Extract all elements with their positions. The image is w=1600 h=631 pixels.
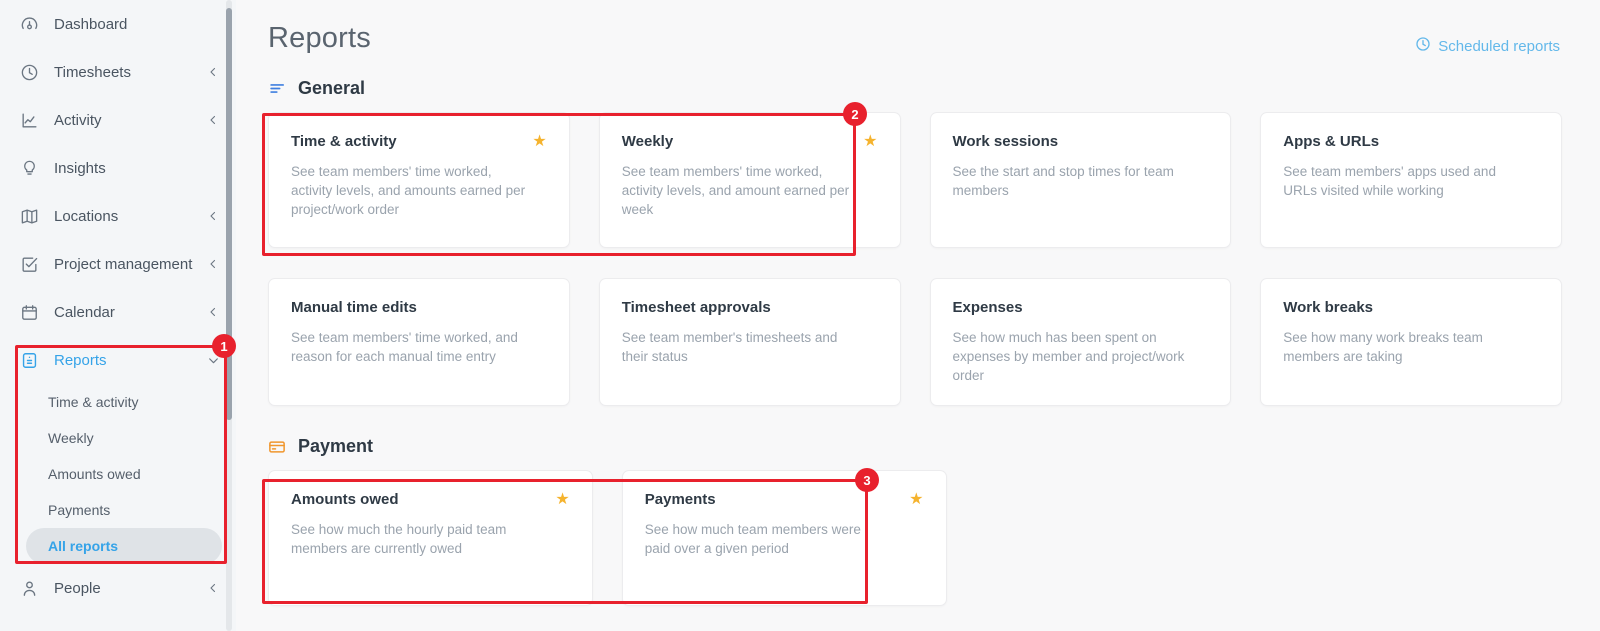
sidebar-item-timesheets[interactable]: Timesheets xyxy=(0,48,236,96)
scheduled-reports-link[interactable]: Scheduled reports xyxy=(1415,36,1560,56)
chevron-left-icon[interactable] xyxy=(206,257,220,271)
star-icon[interactable]: ★ xyxy=(909,492,923,508)
sidebar-item-reports[interactable]: Reports xyxy=(0,336,236,384)
card-title: Weekly xyxy=(622,133,673,150)
lightbulb-icon xyxy=(18,157,40,179)
section-header-payment: Payment xyxy=(268,436,1600,457)
sidebar-subitem-payments[interactable]: Payments xyxy=(26,492,222,528)
card-description: See team member's timesheets and their s… xyxy=(622,328,862,366)
sidebar-item-label: Project management xyxy=(54,256,206,273)
card-description: See how much team members were paid over… xyxy=(645,520,885,558)
clock-icon xyxy=(18,61,40,83)
sidebar-item-label: Activity xyxy=(54,112,206,129)
card-title: Time & activity xyxy=(291,133,397,150)
checkbox-square-icon xyxy=(18,253,40,275)
report-card-timesheet-approvals[interactable]: Timesheet approvals See team member's ti… xyxy=(599,278,901,406)
card-description: See how much the hourly paid team member… xyxy=(291,520,531,558)
card-description: See team members' apps used and URLs vis… xyxy=(1283,162,1523,200)
sidebar-item-people[interactable]: People xyxy=(0,564,236,612)
main-header: Reports Scheduled reports xyxy=(236,0,1600,56)
chevron-left-icon[interactable] xyxy=(206,65,220,79)
card-row-spacer xyxy=(976,470,1255,606)
general-card-row-2: Manual time edits See team members' time… xyxy=(268,278,1562,406)
sidebar-subitem-all-reports[interactable]: All reports xyxy=(26,528,222,564)
sidebar-item-insights[interactable]: Insights xyxy=(0,144,236,192)
sidebar-subitem-label: All reports xyxy=(48,538,118,554)
card-description: See team members' time worked, activity … xyxy=(291,162,531,219)
list-lines-icon xyxy=(268,80,286,98)
card-description: See the start and stop times for team me… xyxy=(953,162,1193,200)
payment-card-row-1: Amounts owed ★ See how much the hourly p… xyxy=(268,470,1562,606)
sidebar-item-project-management[interactable]: Project management xyxy=(0,240,236,288)
sidebar-subitem-amounts-owed[interactable]: Amounts owed xyxy=(26,456,222,492)
clock-icon xyxy=(1415,36,1431,56)
sidebar-item-calendar[interactable]: Calendar xyxy=(0,288,236,336)
sidebar-subitem-label: Amounts owed xyxy=(48,466,141,482)
page-title: Reports xyxy=(268,22,371,55)
sidebar-item-label: Insights xyxy=(54,160,220,177)
card-description: See how many work breaks team members ar… xyxy=(1283,328,1523,366)
card-title: Expenses xyxy=(953,299,1023,316)
card-title: Payments xyxy=(645,491,716,508)
star-icon[interactable]: ★ xyxy=(555,492,569,508)
sidebar-item-activity[interactable]: Activity xyxy=(0,96,236,144)
general-card-row-1: Time & activity ★ See team members' time… xyxy=(268,112,1562,248)
report-card-manual-time-edits[interactable]: Manual time edits See team members' time… xyxy=(268,278,570,406)
report-document-icon xyxy=(18,349,40,371)
card-description: See team members' time worked, activity … xyxy=(622,162,862,219)
report-card-work-sessions[interactable]: Work sessions See the start and stop tim… xyxy=(930,112,1232,248)
reports-page: Dashboard Timesheets Activity xyxy=(0,0,1600,631)
star-icon[interactable]: ★ xyxy=(863,134,877,150)
sidebar-item-label: People xyxy=(54,580,206,597)
card-description: See team members' time worked, and reaso… xyxy=(291,328,531,366)
credit-card-icon xyxy=(268,438,286,456)
card-title: Manual time edits xyxy=(291,299,417,316)
sidebar-item-label: Locations xyxy=(54,208,206,225)
map-icon xyxy=(18,205,40,227)
sidebar-subitem-label: Time & activity xyxy=(48,394,139,410)
sidebar-item-label: Calendar xyxy=(54,304,206,321)
report-card-expenses[interactable]: Expenses See how much has been spent on … xyxy=(930,278,1232,406)
main-content: Reports Scheduled reports General xyxy=(236,0,1600,631)
sidebar-subitem-label: Payments xyxy=(48,502,110,518)
sidebar-item-label: Reports xyxy=(54,352,206,369)
report-card-apps-urls[interactable]: Apps & URLs See team members' apps used … xyxy=(1260,112,1562,248)
chevron-left-icon[interactable] xyxy=(206,581,220,595)
sidebar-scrollbar-thumb[interactable] xyxy=(226,8,232,420)
chevron-left-icon[interactable] xyxy=(206,113,220,127)
sidebar-item-locations[interactable]: Locations xyxy=(0,192,236,240)
section-title: Payment xyxy=(298,436,373,457)
person-icon xyxy=(18,577,40,599)
card-title: Amounts owed xyxy=(291,491,399,508)
chevron-left-icon[interactable] xyxy=(206,209,220,223)
card-description: See how much has been spent on expenses … xyxy=(953,328,1193,385)
section-header-general: General xyxy=(268,78,1600,99)
card-row-spacer xyxy=(1283,470,1562,606)
report-card-work-breaks[interactable]: Work breaks See how many work breaks tea… xyxy=(1260,278,1562,406)
card-title: Work breaks xyxy=(1283,299,1373,316)
section-title: General xyxy=(298,78,365,99)
sidebar-subitem-label: Weekly xyxy=(48,430,94,446)
sidebar-item-label: Timesheets xyxy=(54,64,206,81)
card-title: Timesheet approvals xyxy=(622,299,771,316)
report-card-weekly[interactable]: Weekly ★ See team members' time worked, … xyxy=(599,112,901,248)
chevron-left-icon[interactable] xyxy=(206,305,220,319)
report-card-amounts-owed[interactable]: Amounts owed ★ See how much the hourly p… xyxy=(268,470,593,606)
sidebar-item-dashboard[interactable]: Dashboard xyxy=(0,0,236,48)
sidebar-item-label: Dashboard xyxy=(54,16,220,33)
card-title: Work sessions xyxy=(953,133,1059,150)
sidebar-subitem-weekly[interactable]: Weekly xyxy=(26,420,222,456)
report-card-time-activity[interactable]: Time & activity ★ See team members' time… xyxy=(268,112,570,248)
scheduled-reports-label: Scheduled reports xyxy=(1438,38,1560,55)
star-icon[interactable]: ★ xyxy=(532,134,546,150)
activity-chart-icon xyxy=(18,109,40,131)
chevron-down-icon[interactable] xyxy=(206,353,220,367)
sidebar-subitem-time-activity[interactable]: Time & activity xyxy=(26,384,222,420)
gauge-icon xyxy=(18,13,40,35)
calendar-icon xyxy=(18,301,40,323)
report-card-payments[interactable]: Payments ★ See how much team members wer… xyxy=(622,470,947,606)
card-title: Apps & URLs xyxy=(1283,133,1379,150)
sidebar: Dashboard Timesheets Activity xyxy=(0,0,236,631)
